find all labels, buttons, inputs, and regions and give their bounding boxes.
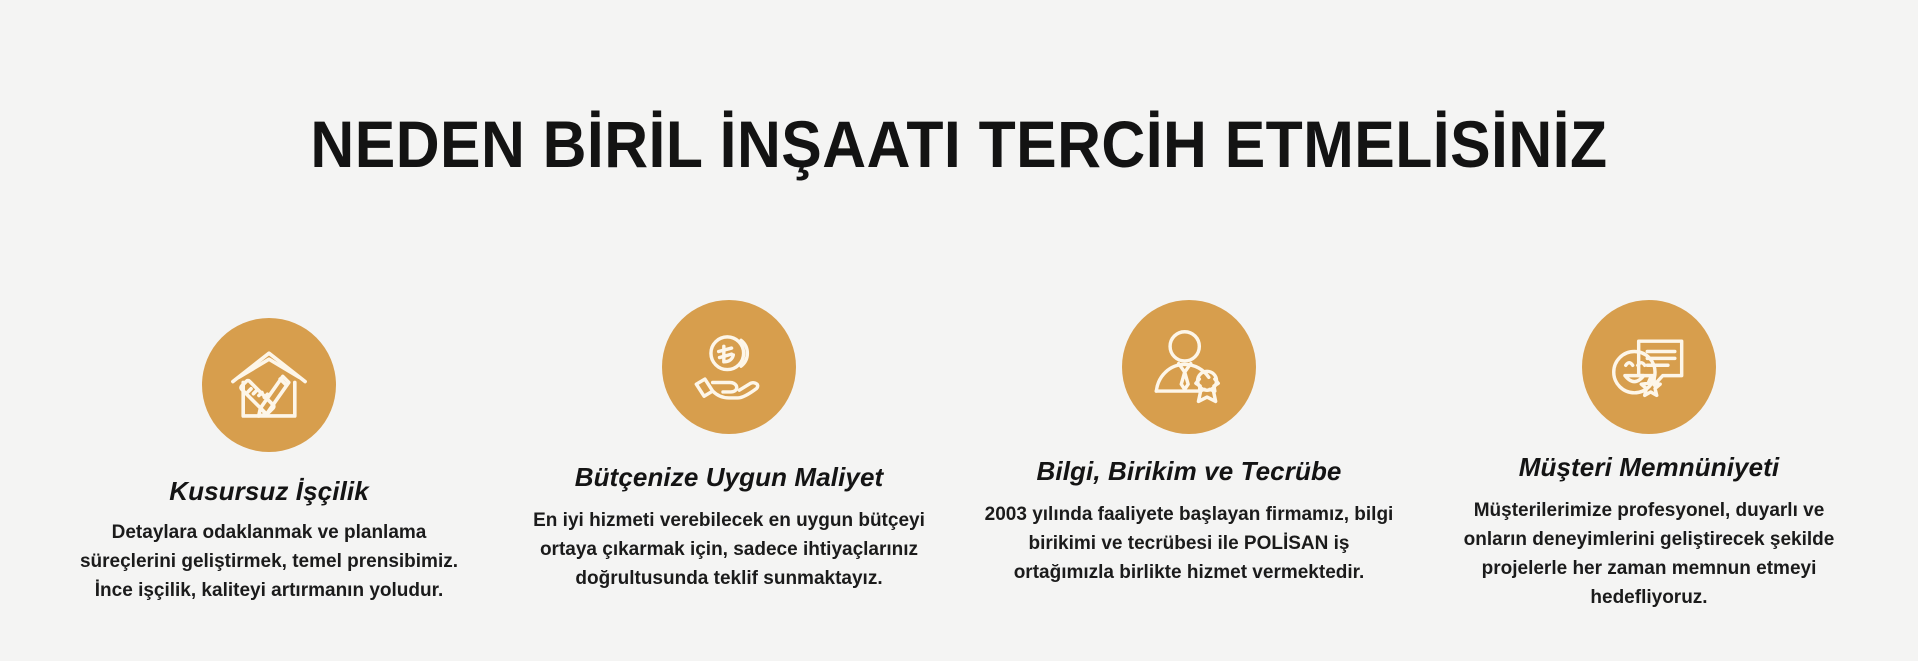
businessman-with-award-badge-icon <box>1122 300 1256 434</box>
feature-card-bilgi-birikim-tecrube: Bilgi, Birikim ve Tecrübe 2003 yılında f… <box>964 300 1414 588</box>
feature-card-butcenize-uygun-maliyet: Bütçenize Uygun Maliyet En iyi hizmeti v… <box>504 300 954 594</box>
page-title: NEDEN BİRİL İNŞAATI TERCİH ETMELİSİNİZ <box>77 106 1842 182</box>
feature-body: Müşterilerimize profesyonel, duyarlı ve … <box>1449 497 1849 613</box>
feature-body: En iyi hizmeti verebilecek en uygun bütç… <box>527 507 931 594</box>
smiley-face-with-review-card-and-star-icon <box>1582 300 1716 434</box>
feature-highlights-page: NEDEN BİRİL İNŞAATI TERCİH ETMELİSİNİZ K… <box>0 0 1918 661</box>
feature-title: Bilgi, Birikim ve Tecrübe <box>1037 456 1342 487</box>
feature-title: Müşteri Memnüniyeti <box>1519 452 1780 483</box>
feature-columns: Kusursuz İşçilik Detaylara odaklanmak ve… <box>0 300 1918 613</box>
feature-card-kusursuz-iscilik: Kusursuz İşçilik Detaylara odaklanmak ve… <box>44 300 494 606</box>
house-with-pencil-and-ruler-icon <box>202 318 336 452</box>
hand-holding-lira-coins-icon <box>662 300 796 434</box>
feature-title: Bütçenize Uygun Maliyet <box>575 462 884 493</box>
feature-title: Kusursuz İşçilik <box>169 476 369 507</box>
feature-body: Detaylara odaklanmak ve planlama süreçle… <box>69 519 469 606</box>
feature-card-musteri-memnuniyeti: Müşteri Memnüniyeti Müşterilerimize prof… <box>1424 300 1874 613</box>
feature-body: 2003 yılında faaliyete başlayan firmamız… <box>984 501 1394 588</box>
